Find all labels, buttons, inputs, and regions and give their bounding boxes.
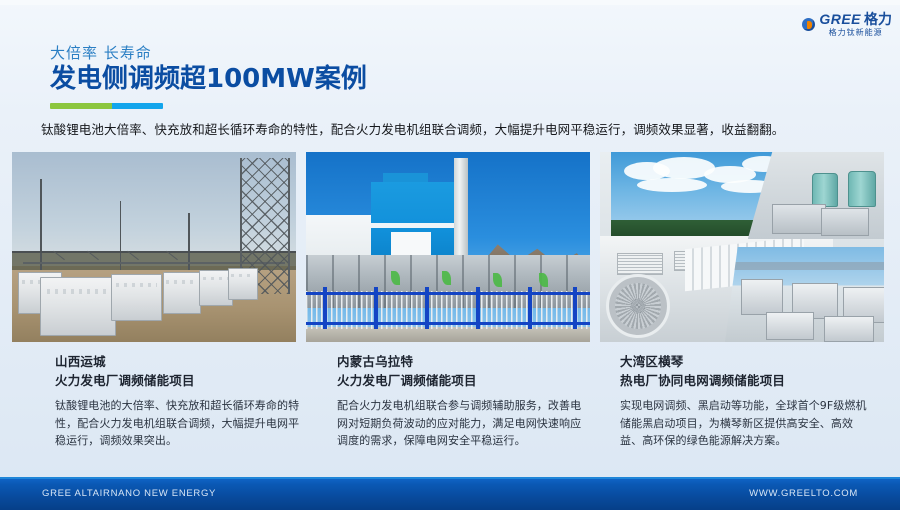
card-location: 内蒙古乌拉特 (337, 352, 587, 371)
battery-container (741, 279, 783, 315)
card-project-name: 火力发电厂调频储能项目 (337, 371, 587, 390)
logo-text-block: GREE 格力 格力钛新能源 (819, 12, 892, 37)
gree-logo: GREE 格力 格力钛新能源 (802, 12, 892, 37)
project-card: 大湾区横琴 热电厂协同电网调频储能项目 实现电网调频、黑启动等功能，全球首个9F… (620, 352, 870, 450)
page-title: 发电侧调频超100MW案例 (50, 63, 367, 96)
battery-container (824, 316, 874, 342)
fence-post (573, 287, 577, 329)
project-card-row: 山西运城 火力发电厂调频储能项目 钛酸锂电池的大倍率、快充放和超长循环寿命的特性… (0, 352, 900, 472)
fence-rail (306, 322, 590, 325)
logo-wordmark-cn: 格力 (864, 13, 892, 27)
card-body: 配合火力发电机组联合参与调频辅助服务，改善电网对短期负荷波动的应对能力，满足电网… (337, 397, 587, 450)
gree-circle-logo-icon (802, 18, 815, 31)
equipment-cabinet (772, 204, 826, 234)
intro-paragraph: 钛酸锂电池大倍率、快充放和超长循环寿命的特性，配合火力发电机组联合调频，大幅提升… (41, 119, 871, 138)
underline-blue-segment (112, 103, 163, 109)
collage-bottom-right-panel (725, 247, 884, 342)
project-card: 内蒙古乌拉特 火力发电厂调频储能项目 配合火力发电机组联合参与调频辅助服务，改善… (337, 352, 587, 450)
battery-container (40, 277, 116, 336)
slide-root: GREE 格力 格力钛新能源 大倍率 长寿命 发电侧调频超100MW案例 钛酸锂… (0, 0, 900, 510)
chimney-stack (454, 158, 468, 264)
logo-subtitle: 格力钛新能源 (819, 29, 892, 37)
battery-container (111, 274, 161, 322)
underline-green-segment (50, 103, 112, 109)
fence-post (323, 287, 327, 329)
project-card: 山西运城 火力发电厂调频储能项目 钛酸锂电池的大倍率、快充放和超长循环寿命的特性… (55, 352, 305, 450)
card-location: 山西运城 (55, 352, 305, 371)
battery-container (163, 272, 202, 314)
lightning-mast (40, 179, 42, 270)
card-project-name: 热电厂协同电网调频储能项目 (620, 371, 870, 390)
card-location: 大湾区横琴 (620, 352, 870, 371)
lightning-mast (120, 201, 122, 269)
logo-wordmark: GREE (819, 12, 861, 26)
footer-website[interactable]: WWW.GREELTO.COM (749, 488, 858, 499)
fence-post (476, 287, 480, 329)
ventilation-louvre (617, 253, 663, 275)
fence-post (374, 287, 378, 329)
page-footer: GREE ALTAIRNANO NEW ENERGY WWW.GREELTO.C… (0, 477, 900, 510)
equipment-cabinet (821, 208, 869, 236)
cloud (637, 178, 707, 192)
storage-tank (848, 171, 876, 207)
photo-row (12, 152, 888, 342)
fence-rail (306, 292, 590, 295)
logo-wordmark-row: GREE 格力 (819, 12, 892, 27)
fence-post (425, 287, 429, 329)
road-foreground (306, 327, 590, 342)
card-project-name: 火力发电厂调频储能项目 (55, 371, 305, 390)
fence-post (528, 287, 532, 329)
battery-container (766, 312, 814, 340)
cooling-fan-icon (606, 274, 670, 338)
title-underline (50, 103, 163, 109)
heading-block: 大倍率 长寿命 发电侧调频超100MW案例 (50, 44, 367, 109)
photo-inner-mongolia-wulate (306, 152, 590, 342)
battery-container (228, 268, 258, 300)
distant-hills (725, 262, 884, 270)
heading-kicker: 大倍率 长寿命 (50, 44, 367, 62)
footer-company-name: GREE ALTAIRNANO NEW ENERGY (42, 488, 216, 499)
card-body: 实现电网调频、黑启动等功能，全球首个9F级燃机储能黑启动项目，为横琴新区提供高安… (620, 397, 870, 450)
photo-shanxi-yuncheng (12, 152, 296, 342)
green-leaf-icon (539, 273, 548, 287)
top-strip (0, 0, 900, 5)
card-body: 钛酸锂电池的大倍率、快充放和超长循环寿命的特性，配合火力发电机组联合调频，大幅提… (55, 397, 305, 450)
photo-hengqin-greater-bay-area (600, 152, 884, 342)
storage-tank (812, 173, 838, 207)
